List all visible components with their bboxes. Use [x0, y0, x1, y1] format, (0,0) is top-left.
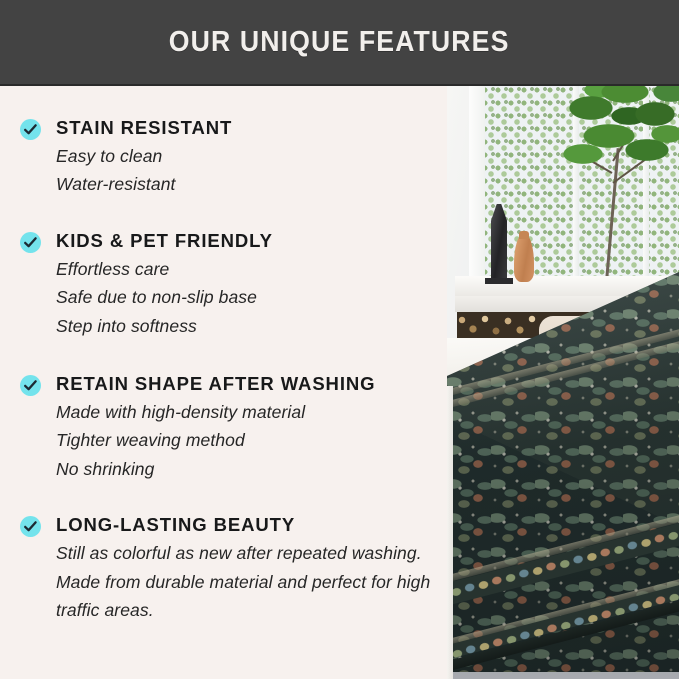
- tree-canopy: [563, 86, 679, 198]
- feature-infographic: OUR UNIQUE FEATURES STAIN RESISTANT Easy…: [0, 0, 679, 679]
- feature-line: Safe due to non-slip base: [56, 283, 439, 311]
- terracotta-vase: [514, 234, 534, 282]
- header-band: OUR UNIQUE FEATURES: [0, 0, 679, 86]
- features-panel: STAIN RESISTANT Easy to clean Water-resi…: [0, 86, 447, 679]
- feature-line: Step into softness: [56, 312, 439, 340]
- page-title: OUR UNIQUE FEATURES: [169, 26, 510, 59]
- feature-item-kids-pet-friendly: KIDS & PET FRIENDLY Effortless care Safe…: [18, 229, 439, 340]
- feature-line: Water-resistant: [56, 170, 439, 198]
- feature-title: STAIN RESISTANT: [56, 116, 439, 139]
- feature-line: No shrinking: [56, 455, 439, 483]
- feature-title: KIDS & PET FRIENDLY: [56, 229, 439, 252]
- living-room-photo: [447, 86, 679, 679]
- feature-title: LONG-LASTING BEAUTY: [56, 513, 439, 536]
- feature-item-stain-resistant: STAIN RESISTANT Easy to clean Water-resi…: [18, 116, 439, 199]
- floor-left-strip: [447, 386, 453, 679]
- check-circle-icon: [20, 232, 41, 253]
- obelisk-base: [485, 278, 513, 284]
- check-circle-icon: [20, 119, 41, 140]
- feature-item-long-lasting-beauty: LONG-LASTING BEAUTY Still as colorful as…: [18, 513, 439, 624]
- check-circle-icon: [20, 516, 41, 537]
- terracotta-vase-neck: [519, 231, 529, 239]
- feature-line: Effortless care: [56, 255, 439, 283]
- feature-item-retain-shape: RETAIN SHAPE AFTER WASHING Made with hig…: [18, 372, 439, 483]
- feature-line: Tighter weaving method: [56, 426, 439, 454]
- feature-line: Made with high-density material: [56, 398, 439, 426]
- feature-paragraph: Still as colorful as new after repeated …: [56, 539, 436, 624]
- check-circle-icon: [20, 375, 41, 396]
- feature-title: RETAIN SHAPE AFTER WASHING: [56, 372, 439, 395]
- feature-line: Easy to clean: [56, 142, 439, 170]
- obelisk-sculpture: [491, 204, 507, 280]
